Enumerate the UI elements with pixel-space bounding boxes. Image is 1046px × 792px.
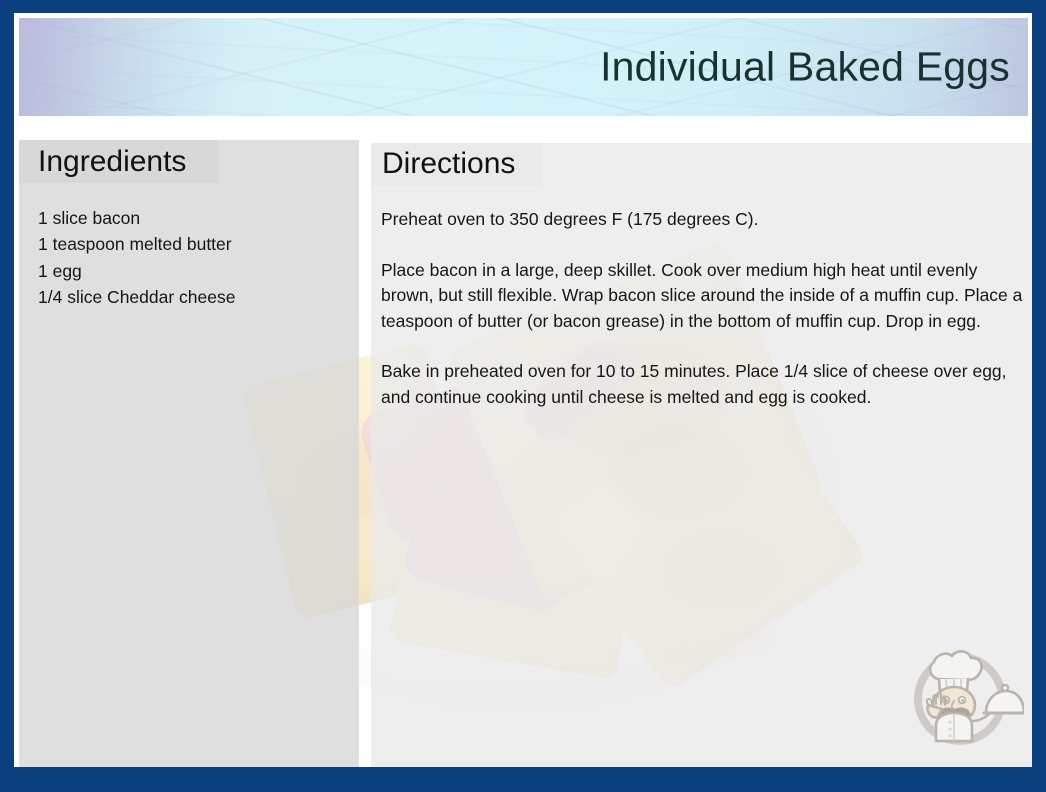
directions-text: Preheat oven to 350 degrees F (175 degre… (381, 207, 1026, 410)
ingredient-item: 1/4 slice Cheddar cheese (38, 284, 338, 310)
ingredient-item: 1 teaspoon melted butter (38, 231, 338, 257)
chef-mascot-logo (900, 629, 1024, 753)
ingredient-item: 1 egg (38, 258, 338, 284)
recipe-title: Individual Baked Eggs (600, 47, 1010, 88)
ingredient-item: 1 slice bacon (38, 205, 338, 231)
ingredients-heading: Ingredients (38, 147, 186, 177)
ingredients-list: 1 slice bacon 1 teaspoon melted butter 1… (38, 205, 338, 310)
recipe-card: Individual Baked Eggs (0, 0, 1046, 792)
direction-paragraph: Preheat oven to 350 degrees F (175 degre… (381, 207, 1026, 233)
direction-paragraph: Bake in preheated oven for 10 to 15 minu… (381, 359, 1026, 410)
directions-heading: Directions (382, 149, 515, 179)
header-banner: Individual Baked Eggs (19, 18, 1028, 116)
recipe-page: Individual Baked Eggs (14, 13, 1032, 767)
direction-paragraph: Place bacon in a large, deep skillet. Co… (381, 258, 1026, 335)
